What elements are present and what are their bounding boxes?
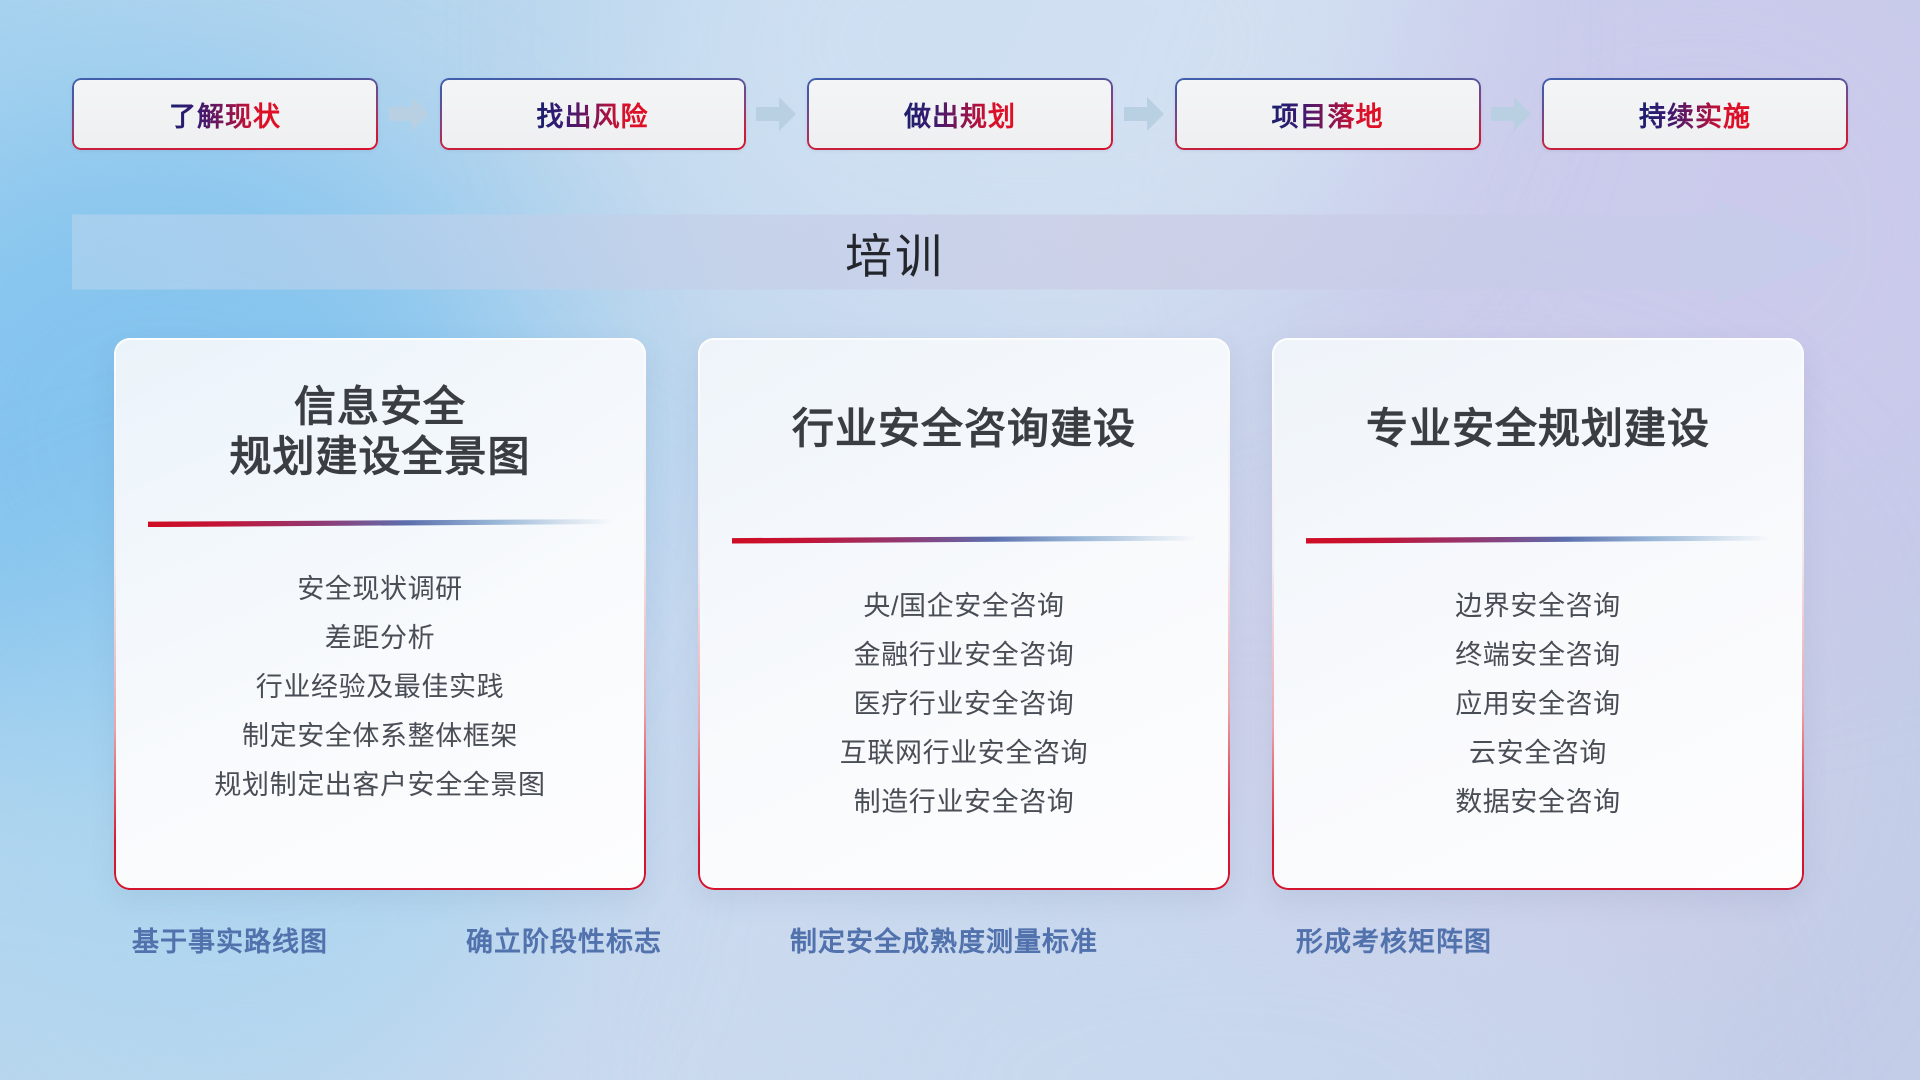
card-divider-3 (1306, 536, 1770, 544)
card-title-3-line1: 专业安全规划建设 (1298, 404, 1778, 454)
caption-roadmap: 基于事实路线图 (132, 920, 328, 959)
list-item: 差距分析 (114, 614, 646, 663)
list-item: 应用安全咨询 (1272, 680, 1804, 729)
caption-milestone: 确立阶段性标志 (466, 920, 662, 959)
right-arrow-icon (1489, 94, 1533, 134)
step-label-2: 找出风险 (537, 95, 649, 134)
card-divider-1 (148, 519, 612, 527)
right-arrow-icon (1122, 94, 1166, 134)
list-item: 规划制定出客户安全全景图 (114, 761, 646, 810)
step-box-5[interactable]: 持续实施 (1542, 78, 1848, 150)
step-box-1[interactable]: 了解现状 (72, 78, 378, 150)
list-item: 央/国企安全咨询 (698, 582, 1230, 631)
list-item: 制定安全体系整体框架 (114, 712, 646, 761)
list-item: 云安全咨询 (1272, 729, 1804, 778)
card-professional-security-planning[interactable]: 专业安全规划建设 边界安全咨询 终端安全咨询 应用安全咨询 云安全咨询 数据安全… (1272, 338, 1804, 890)
step-box-3[interactable]: 做出规划 (807, 78, 1113, 150)
list-item: 行业经验及最佳实践 (114, 663, 646, 712)
card-title-3: 专业安全规划建设 (1272, 404, 1804, 454)
list-item: 数据安全咨询 (1272, 778, 1804, 827)
card-industry-security-consulting[interactable]: 行业安全咨询建设 央/国企安全咨询 金融行业安全咨询 医疗行业安全咨询 互联网行… (698, 338, 1230, 890)
card-list-3: 边界安全咨询 终端安全咨询 应用安全咨询 云安全咨询 数据安全咨询 (1272, 582, 1804, 827)
card-information-security-panorama[interactable]: 信息安全 规划建设全景图 安全现状调研 差距分析 行业经验及最佳实践 制定安全体… (114, 338, 646, 890)
step-label-4: 项目落地 (1272, 95, 1384, 134)
caption-assessment-matrix: 形成考核矩阵图 (1296, 920, 1492, 959)
card-title-2-line1: 行业安全咨询建设 (724, 404, 1204, 454)
step-label-3: 做出规划 (904, 95, 1016, 134)
banner-title: 培训 (72, 200, 1848, 304)
list-item: 金融行业安全咨询 (698, 631, 1230, 680)
list-item: 边界安全咨询 (1272, 582, 1804, 631)
step-box-4[interactable]: 项目落地 (1175, 78, 1481, 150)
card-title-1: 信息安全 规划建设全景图 (114, 382, 646, 481)
list-item: 终端安全咨询 (1272, 631, 1804, 680)
step-box-2[interactable]: 找出风险 (440, 78, 746, 150)
caption-maturity-standard: 制定安全成熟度测量标准 (790, 920, 1098, 959)
card-divider-2 (732, 536, 1196, 544)
card-title-2: 行业安全咨询建设 (698, 404, 1230, 454)
card-title-1-line2: 规划建设全景图 (140, 432, 620, 482)
list-item: 安全现状调研 (114, 565, 646, 614)
training-banner: 培训 (72, 200, 1848, 304)
right-arrow-icon (754, 94, 798, 134)
slide-canvas: 了解现状 找出风险 做出规划 项目落地 持续实施 培训 (0, 0, 1920, 1080)
list-item: 制造行业安全咨询 (698, 778, 1230, 827)
right-arrow-icon (387, 94, 431, 134)
process-step-row: 了解现状 找出风险 做出规划 项目落地 持续实施 (72, 78, 1848, 150)
step-label-5: 持续实施 (1639, 95, 1751, 134)
list-item: 医疗行业安全咨询 (698, 680, 1230, 729)
card-title-1-line1: 信息安全 (140, 382, 620, 432)
caption-row: 基于事实路线图 确立阶段性标志 制定安全成熟度测量标准 形成考核矩阵图 (0, 920, 1920, 970)
step-label-1: 了解现状 (169, 95, 281, 134)
list-item: 互联网行业安全咨询 (698, 729, 1230, 778)
card-row: 信息安全 规划建设全景图 安全现状调研 差距分析 行业经验及最佳实践 制定安全体… (0, 338, 1920, 890)
card-list-2: 央/国企安全咨询 金融行业安全咨询 医疗行业安全咨询 互联网行业安全咨询 制造行… (698, 582, 1230, 827)
card-list-1: 安全现状调研 差距分析 行业经验及最佳实践 制定安全体系整体框架 规划制定出客户… (114, 565, 646, 810)
